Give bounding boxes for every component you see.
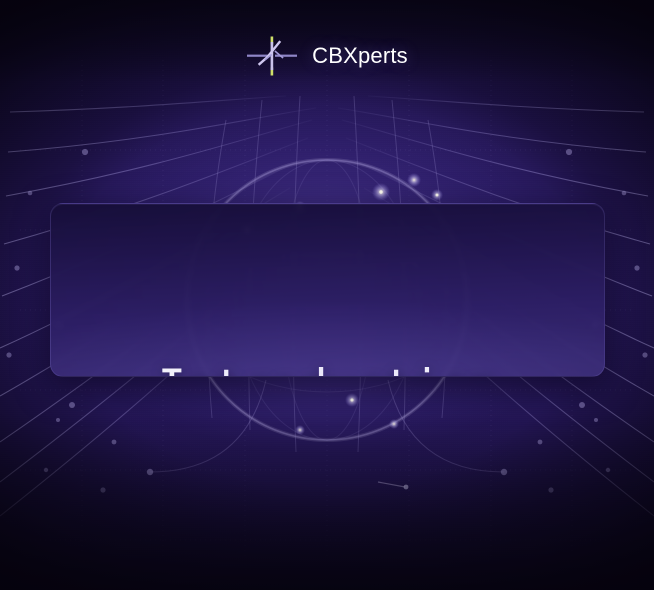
brand-header: CBXperts — [0, 33, 654, 79]
star-burst-logo-icon — [246, 33, 298, 79]
title-card: Introduction to Prompting — [50, 203, 605, 377]
title-block: Introduction to Prompting — [51, 228, 604, 377]
slide-canvas: CBXperts Introduction to Prompting — [0, 0, 654, 590]
title-line-primary: Introduction — [51, 356, 604, 377]
brand-name: CBXperts — [312, 45, 408, 67]
